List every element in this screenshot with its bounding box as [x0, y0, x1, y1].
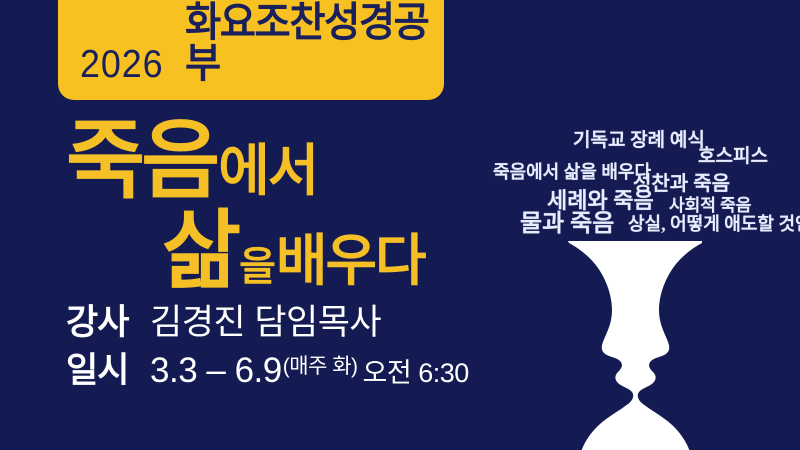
- info-value-speaker: 김경진 담임목사: [150, 305, 381, 340]
- info-block: 강사 김경진 담임목사 일시 3.3 – 6.9 (매주 화) 오전 6:30: [66, 305, 469, 401]
- headline-line-2: 삶 을 배우다: [66, 208, 496, 294]
- headline-particle-eul: 을: [239, 247, 274, 287]
- headline-particle-eseo: 에서: [218, 143, 317, 199]
- topic-wordcloud: 기독교 장례 예식호스피스죽음에서 삶을 배우다성찬과 죽음세례와 죽음사회적 …: [485, 125, 800, 245]
- headline: 죽음 에서 삶 을 배우다: [66, 118, 496, 294]
- banner-title: 화요조찬성경공부: [185, 2, 434, 84]
- info-value-schedule-time: 오전 6:30: [363, 360, 469, 387]
- wordcloud-item: 사회적 죽음: [669, 197, 751, 214]
- banner-year: 2026: [80, 45, 164, 84]
- headline-word-death: 죽음: [66, 118, 216, 204]
- wordcloud-item: 세례와 죽음: [547, 190, 654, 212]
- vase-shape: [568, 241, 702, 450]
- wordcloud-item: 호스피스: [698, 147, 768, 166]
- info-label-schedule: 일시: [66, 353, 150, 388]
- headline-word-life: 삶: [162, 208, 237, 294]
- wordcloud-item: 물과 죽음: [520, 212, 614, 236]
- header-banner: 2026 화요조찬성경공부: [58, 0, 444, 100]
- poster-canvas: 2026 화요조찬성경공부 죽음 에서 삶 을 배우다 강사 김경진 담임목사 …: [0, 0, 800, 450]
- wordcloud-item: 기독교 장례 예식: [573, 131, 705, 150]
- info-value-schedule-dates: 3.3 – 6.9: [150, 353, 282, 388]
- info-row-speaker: 강사 김경진 담임목사: [66, 305, 469, 340]
- info-label-speaker: 강사: [66, 305, 150, 340]
- wordcloud-item: 죽음에서 삶을 배우다: [493, 163, 651, 181]
- info-value-schedule-weekday: (매주 화): [283, 356, 358, 377]
- headline-line-1: 죽음 에서: [66, 118, 496, 204]
- headline-word-learn: 배우다: [276, 233, 425, 289]
- wordcloud-item: 상실, 어떻게 애도할 것인가?: [628, 215, 800, 233]
- info-row-schedule: 일시 3.3 – 6.9 (매주 화) 오전 6:30: [66, 353, 469, 388]
